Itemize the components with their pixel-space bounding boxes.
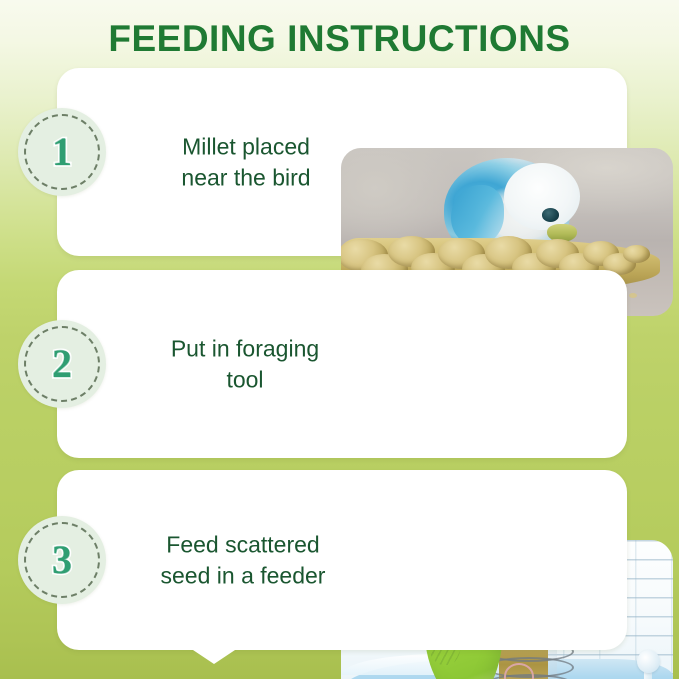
step-card-2: Put in foraging tool: [57, 270, 627, 458]
blue-budgie-eye: [542, 208, 559, 221]
cage-knob: [637, 650, 660, 673]
step-2-text-line-2: tool: [149, 364, 341, 395]
step-3-number: 3: [18, 516, 106, 604]
blue-budgie-head: [504, 163, 580, 230]
step-3-text-line-2: seed in a feeder: [143, 560, 343, 591]
step-badge-3: 3: [18, 516, 106, 604]
step-3-text: Feed scattered seed in a feeder: [143, 529, 343, 590]
step-1-text: Millet placed near the bird: [153, 131, 339, 192]
step-badge-1: 1: [18, 108, 106, 196]
card-pointer-tail: [190, 648, 238, 664]
step-1-number: 1: [18, 108, 106, 196]
step-card-1: Millet placed near the bird: [57, 68, 627, 256]
step-2-number: 2: [18, 320, 106, 408]
step-3-text-line-1: Feed scattered: [143, 529, 343, 560]
page-title: FEEDING INSTRUCTIONS: [0, 18, 679, 60]
step-1-text-line-2: near the bird: [153, 162, 339, 193]
step-2-text: Put in foraging tool: [149, 333, 341, 394]
step-card-3: Feed scattered seed in a feeder: [57, 470, 627, 650]
step-1-text-line-1: Millet placed: [153, 131, 339, 162]
step-2-text-line-1: Put in foraging: [149, 333, 341, 364]
feeding-instructions-poster: FEEDING INSTRUCTIONS Millet placed near …: [0, 0, 679, 679]
step-badge-2: 2: [18, 320, 106, 408]
